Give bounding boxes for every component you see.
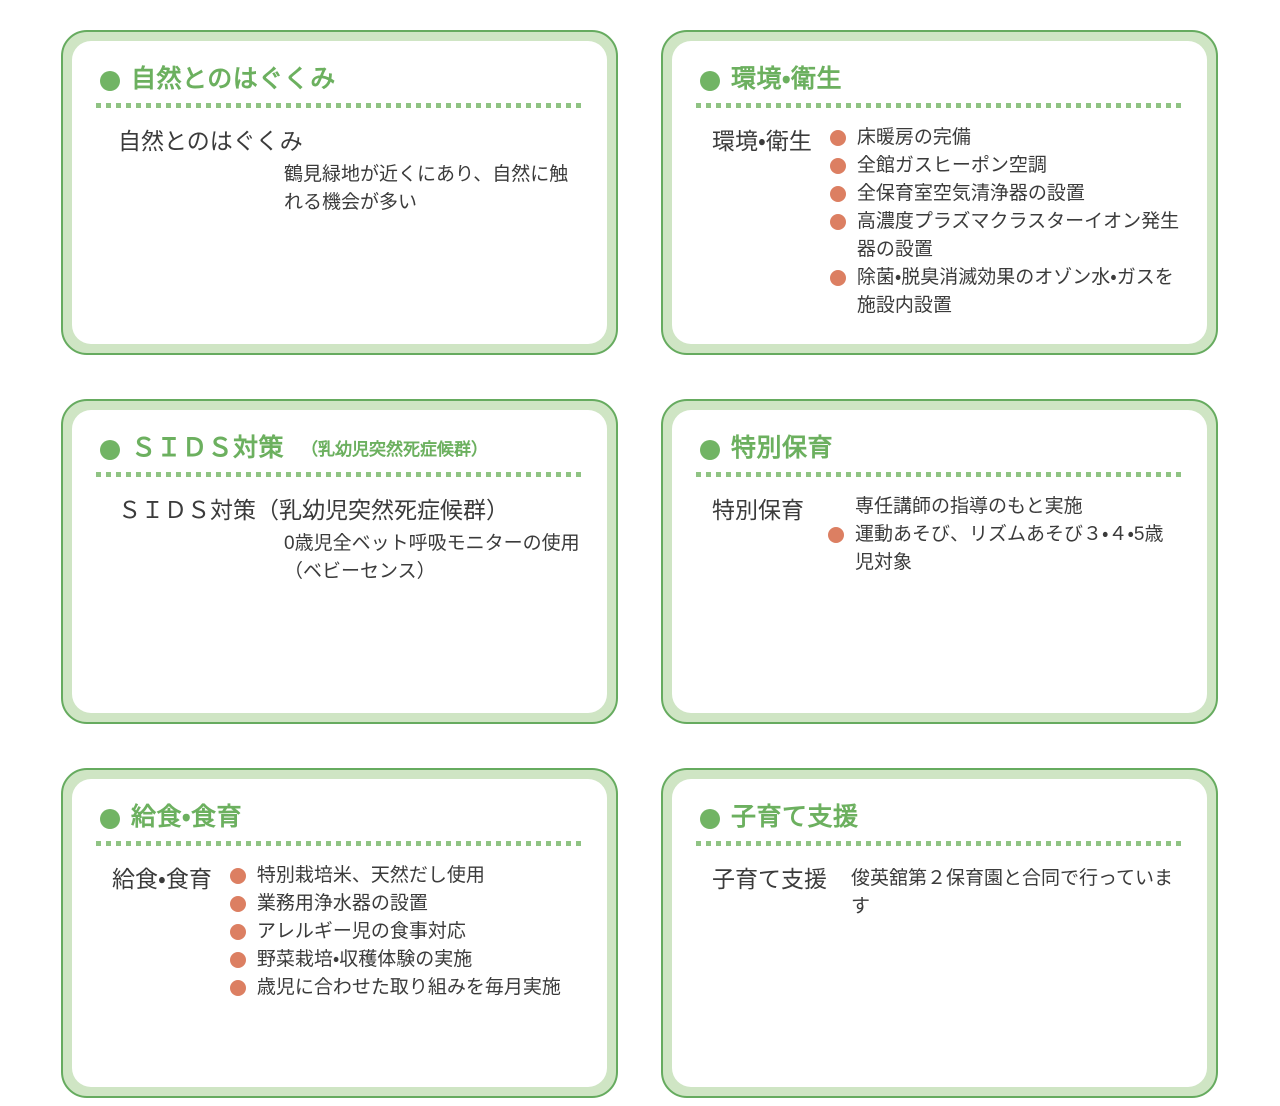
card-label: 特別保育: [696, 493, 804, 527]
card-description: 俊英舘第２保育園と合同で行っています: [851, 862, 1181, 920]
card-meals-food-education[interactable]: 給食・食育 給食・食育 特別栽培米、天然だし使用 業務用浄水器の設置 アレルギー…: [61, 768, 618, 1098]
list-item: 全保育室空気清浄器の設置: [830, 180, 1181, 208]
list-item: 野菜栽培・収穫体験の実施: [230, 946, 581, 974]
card-label: 給食・食育: [96, 862, 212, 896]
cards-board: 自然とのはぐくみ 自然とのはぐくみ 鶴見緑地が近くにあり、自然に触れる機会が多い…: [0, 0, 1280, 1106]
list-item: アレルギー児の食事対応: [230, 918, 581, 946]
list-item: 歳児に合わせた取り組みを毎月実施: [230, 974, 581, 1002]
card-inner: 環境・衛生 環境・衛生 床暖房の完備 全館ガスヒーポン空調 全保育室空気清浄器の…: [672, 41, 1207, 344]
card-environment-hygiene[interactable]: 環境・衛生 環境・衛生 床暖房の完備 全館ガスヒーポン空調 全保育室空気清浄器の…: [661, 30, 1218, 355]
card-sids[interactable]: ＳＩＤＳ対策 （乳幼児突然死症候群） ＳＩＤＳ対策（乳幼児突然死症候群） 0歳児…: [61, 399, 618, 724]
card-label: 自然とのはぐくみ: [96, 124, 581, 159]
list-item: 特別栽培米、天然だし使用: [230, 862, 581, 890]
card-body: 自然とのはぐくみ 鶴見緑地が近くにあり、自然に触れる機会が多い: [96, 124, 581, 218]
card-body: ＳＩＤＳ対策（乳幼児突然死症候群） 0歳児全ベット呼吸モニターの使用（ベビーセン…: [96, 493, 581, 587]
list-item: 除菌・脱臭消滅効果のオゾン水・ガスを施設内設置: [830, 264, 1181, 320]
card-title: 自然とのはぐくみ: [131, 67, 336, 92]
card-inner: 給食・食育 給食・食育 特別栽培米、天然だし使用 業務用浄水器の設置 アレルギー…: [72, 779, 607, 1087]
card-content: 俊英舘第２保育園と合同で行っています: [851, 862, 1181, 920]
card-body: 給食・食育 特別栽培米、天然だし使用 業務用浄水器の設置 アレルギー児の食事対応…: [96, 862, 581, 1002]
green-dot-icon: [100, 71, 120, 91]
card-title: 特別保育: [731, 436, 833, 461]
card-header: 子育て支援: [696, 805, 1181, 830]
list-item: 高濃度プラズマクラスターイオン発生器の設置: [830, 208, 1181, 264]
card-description: 鶴見緑地が近くにあり、自然に触れる機会が多い: [96, 161, 581, 218]
feature-list: 専任講師の指導のもと実施 運動あそび、リズムあそび３・４・5歳児対象: [828, 493, 1181, 577]
card-body: 環境・衛生 床暖房の完備 全館ガスヒーポン空調 全保育室空気清浄器の設置 高濃度…: [696, 124, 1181, 319]
card-content: 床暖房の完備 全館ガスヒーポン空調 全保育室空気清浄器の設置 高濃度プラズマクラ…: [830, 124, 1181, 319]
list-item: 床暖房の完備: [830, 124, 1181, 152]
card-inner: ＳＩＤＳ対策 （乳幼児突然死症候群） ＳＩＤＳ対策（乳幼児突然死症候群） 0歳児…: [72, 410, 607, 713]
card-content: 専任講師の指導のもと実施 運動あそび、リズムあそび３・４・5歳児対象: [828, 493, 1181, 577]
list-lead: 専任講師の指導のもと実施: [828, 493, 1181, 521]
list-item: 運動あそび、リズムあそび３・４・5歳児対象: [828, 521, 1181, 577]
card-header: 環境・衛生: [696, 67, 1181, 92]
feature-list: 特別栽培米、天然だし使用 業務用浄水器の設置 アレルギー児の食事対応 野菜栽培・…: [230, 862, 581, 1002]
list-item: 業務用浄水器の設置: [230, 890, 581, 918]
cards-grid: 自然とのはぐくみ 自然とのはぐくみ 鶴見緑地が近くにあり、自然に触れる機会が多い…: [61, 30, 1220, 1098]
card-body: 子育て支援 俊英舘第２保育園と合同で行っています: [696, 862, 1181, 920]
card-title-note: （乳幼児突然死症候群）: [301, 441, 488, 458]
green-dot-icon: [700, 71, 720, 91]
list-item: 全館ガスヒーポン空調: [830, 152, 1181, 180]
card-title: 子育て支援: [731, 805, 859, 830]
green-dot-icon: [700, 440, 720, 460]
dotted-divider: [96, 103, 581, 108]
card-label: 子育て支援: [696, 862, 827, 896]
card-header: 特別保育: [696, 436, 1181, 461]
dotted-divider: [96, 472, 581, 477]
green-dot-icon: [700, 809, 720, 829]
card-description: 0歳児全ベット呼吸モニターの使用（ベビーセンス）: [96, 530, 581, 587]
card-label: ＳＩＤＳ対策（乳幼児突然死症候群）: [96, 493, 581, 528]
dotted-divider: [96, 841, 581, 846]
card-label: 環境・衛生: [696, 124, 812, 158]
card-header: 自然とのはぐくみ: [96, 67, 581, 92]
feature-list: 床暖房の完備 全館ガスヒーポン空調 全保育室空気清浄器の設置 高濃度プラズマクラ…: [830, 124, 1181, 319]
card-inner: 子育て支援 子育て支援 俊英舘第２保育園と合同で行っています: [672, 779, 1207, 1087]
card-content: 特別栽培米、天然だし使用 業務用浄水器の設置 アレルギー児の食事対応 野菜栽培・…: [230, 862, 581, 1002]
green-dot-icon: [100, 809, 120, 829]
card-header: 給食・食育: [96, 805, 581, 830]
card-inner: 特別保育 特別保育 専任講師の指導のもと実施 運動あそび、リズムあそび３・４・5…: [672, 410, 1207, 713]
dotted-divider: [696, 472, 1181, 477]
dotted-divider: [696, 841, 1181, 846]
card-special-childcare[interactable]: 特別保育 特別保育 専任講師の指導のもと実施 運動あそび、リズムあそび３・４・5…: [661, 399, 1218, 724]
card-body: 特別保育 専任講師の指導のもと実施 運動あそび、リズムあそび３・４・5歳児対象: [696, 493, 1181, 577]
card-parenting-support[interactable]: 子育て支援 子育て支援 俊英舘第２保育園と合同で行っています: [661, 768, 1218, 1098]
card-title: ＳＩＤＳ対策: [131, 436, 284, 461]
card-inner: 自然とのはぐくみ 自然とのはぐくみ 鶴見緑地が近くにあり、自然に触れる機会が多い: [72, 41, 607, 344]
card-title: 給食・食育: [131, 805, 242, 830]
card-title: 環境・衛生: [731, 67, 842, 92]
green-dot-icon: [100, 440, 120, 460]
card-nature[interactable]: 自然とのはぐくみ 自然とのはぐくみ 鶴見緑地が近くにあり、自然に触れる機会が多い: [61, 30, 618, 355]
dotted-divider: [696, 103, 1181, 108]
card-header: ＳＩＤＳ対策 （乳幼児突然死症候群）: [96, 436, 581, 461]
